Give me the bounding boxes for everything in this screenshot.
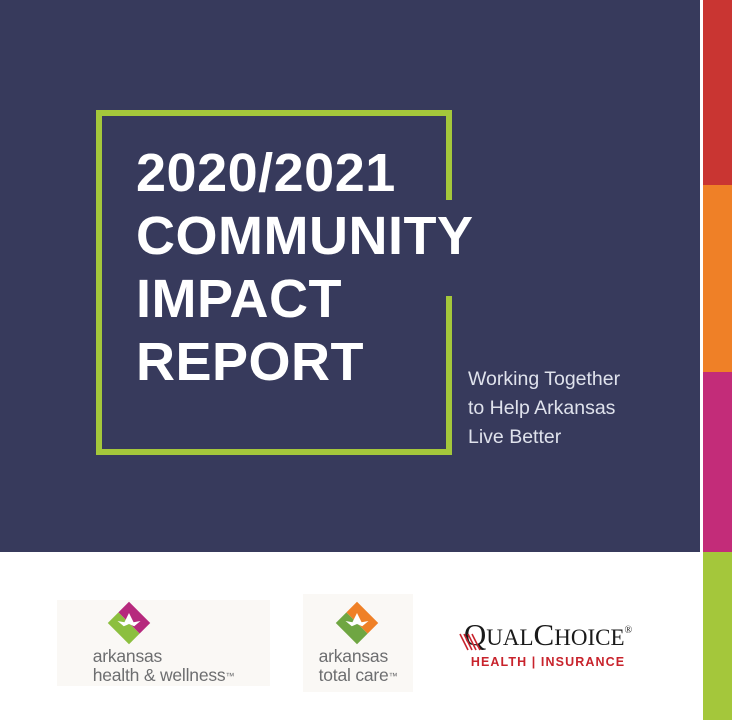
logo-line-2-text: total care (319, 665, 389, 685)
qualchoice-subtitle: HEALTH | INSURANCE (450, 655, 646, 669)
tagline-line-1: Working Together (468, 365, 683, 394)
hero-panel: 2020/2021 COMMUNITY IMPACT REPORT Workin… (0, 0, 700, 552)
qualchoice-slash-icon (458, 632, 484, 652)
logo-arkansas-total-care: arkansas total care™ (303, 594, 413, 692)
color-bar-orange (703, 185, 732, 372)
color-bar-green (703, 552, 732, 720)
logo-band: arkansas health & wellness™ (0, 552, 700, 720)
logo-line-2: total care™ (319, 666, 398, 686)
trademark-symbol: ™ (225, 671, 234, 681)
diamond-star-icon (335, 601, 379, 645)
logo-qualchoice: QUALCHOICE® HEALTH | INSURANCE (450, 614, 646, 670)
diamond-star-icon (107, 601, 151, 645)
qc-c: C (534, 617, 555, 652)
qc-hoice: HOICE (554, 625, 624, 650)
logo-line-1: arkansas (319, 647, 398, 666)
qc-ual: UAL (486, 625, 533, 650)
trademark-symbol: ™ (389, 671, 398, 681)
logo-wordmark-atc: arkansas total care™ (319, 647, 398, 686)
logo-line-2-text: health & wellness (93, 665, 226, 685)
title-line-community: COMMUNITY (136, 205, 556, 268)
color-bar-red (703, 0, 732, 185)
logo-arkansas-health-wellness: arkansas health & wellness™ (57, 600, 270, 686)
logo-line-1: arkansas (93, 647, 235, 666)
tagline-line-3: Live Better (468, 423, 683, 452)
color-bar-magenta (703, 372, 732, 552)
registered-symbol: ® (625, 625, 633, 636)
report-cover-page: 2020/2021 COMMUNITY IMPACT REPORT Workin… (0, 0, 732, 720)
qualchoice-wordmark: QUALCHOICE® HEALTH | INSURANCE (450, 615, 646, 669)
tagline: Working Together to Help Arkansas Live B… (468, 365, 683, 452)
logo-wordmark-ahw: arkansas health & wellness™ (93, 647, 235, 686)
title-line-year: 2020/2021 (136, 142, 556, 205)
page-title: 2020/2021 COMMUNITY IMPACT REPORT (136, 142, 556, 394)
title-line-impact: IMPACT (136, 268, 556, 331)
logo-line-2: health & wellness™ (93, 666, 235, 686)
tagline-line-2: to Help Arkansas (468, 394, 683, 423)
